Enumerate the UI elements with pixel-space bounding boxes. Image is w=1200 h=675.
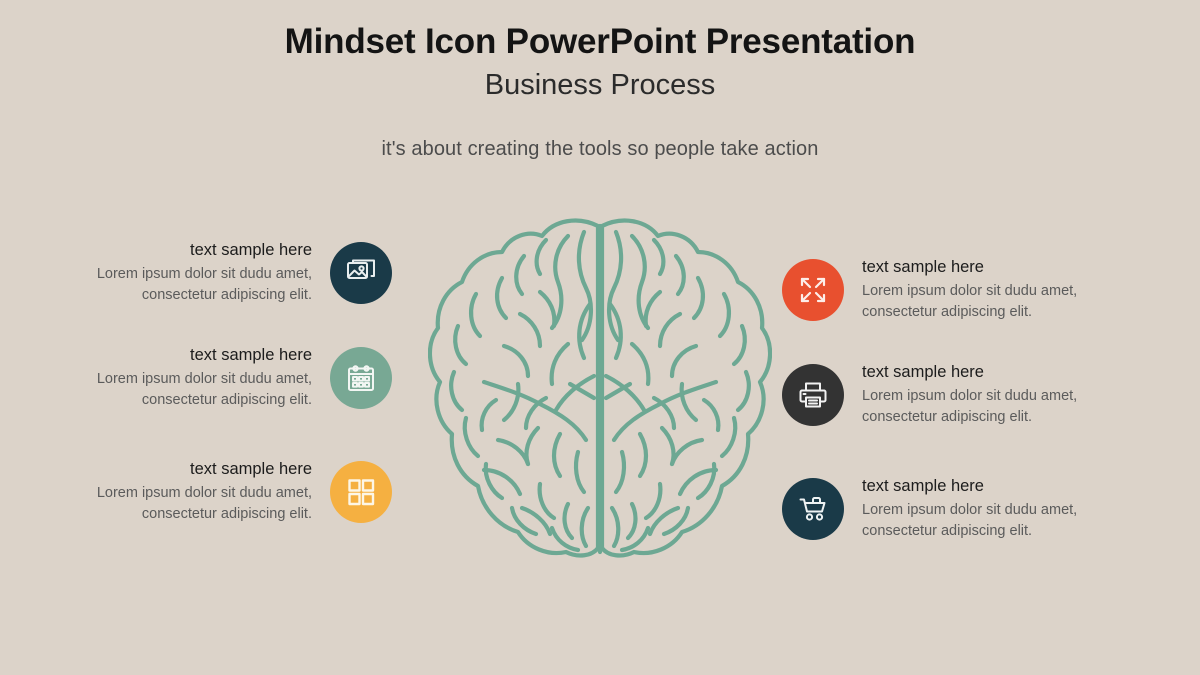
- feature-heading: text sample here: [72, 240, 312, 261]
- feature-body-line1: Lorem ipsum dolor sit dudu amet,: [862, 502, 1077, 518]
- feature-body-line1: Lorem ipsum dolor sit dudu amet,: [97, 266, 312, 282]
- feature-body-line2: consectetur adipiscing elit.: [142, 287, 312, 303]
- feature-text-block: text sample here Lorem ipsum dolor sit d…: [72, 240, 330, 306]
- page-title: Mindset Icon PowerPoint Presentation: [0, 22, 1200, 61]
- feature-icon-badge[interactable]: [330, 242, 392, 304]
- feature-body-line2: consectetur adipiscing elit.: [862, 304, 1032, 320]
- feature-body: Lorem ipsum dolor sit dudu amet, consect…: [72, 483, 312, 524]
- feature-item-right-3[interactable]: text sample here Lorem ipsum dolor sit d…: [782, 476, 1112, 542]
- feature-body-line2: consectetur adipiscing elit.: [862, 409, 1032, 425]
- image-icon: [345, 257, 377, 289]
- feature-item-left-1[interactable]: text sample here Lorem ipsum dolor sit d…: [72, 240, 402, 306]
- feature-body-line2: consectetur adipiscing elit.: [142, 506, 312, 522]
- feature-body-line1: Lorem ipsum dolor sit dudu amet,: [97, 485, 312, 501]
- feature-text-block: text sample here Lorem ipsum dolor sit d…: [844, 476, 1102, 542]
- feature-text-block: text sample here Lorem ipsum dolor sit d…: [72, 459, 330, 525]
- presentation-slide: Mindset Icon PowerPoint Presentation Bus…: [0, 0, 1200, 675]
- feature-heading: text sample here: [72, 345, 312, 366]
- feature-item-left-3[interactable]: text sample here Lorem ipsum dolor sit d…: [72, 459, 402, 525]
- feature-icon-badge[interactable]: [330, 347, 392, 409]
- feature-heading: text sample here: [862, 362, 1102, 383]
- feature-icon-badge[interactable]: [330, 461, 392, 523]
- feature-text-block: text sample here Lorem ipsum dolor sit d…: [844, 257, 1102, 323]
- feature-heading: text sample here: [72, 459, 312, 480]
- feature-item-left-2[interactable]: text sample here Lorem ipsum dolor sit d…: [72, 345, 402, 411]
- feature-body: Lorem ipsum dolor sit dudu amet, consect…: [862, 386, 1102, 427]
- calendar-icon: [345, 362, 377, 394]
- feature-heading: text sample here: [862, 257, 1102, 278]
- feature-icon-badge[interactable]: [782, 259, 844, 321]
- feature-icon-badge[interactable]: [782, 364, 844, 426]
- feature-item-right-2[interactable]: text sample here Lorem ipsum dolor sit d…: [782, 362, 1112, 428]
- feature-icon-badge[interactable]: [782, 478, 844, 540]
- page-subtitle: Business Process: [0, 67, 1200, 103]
- slide-tagline: it's about creating the tools so people …: [0, 138, 1200, 161]
- feature-body: Lorem ipsum dolor sit dudu amet, consect…: [72, 264, 312, 305]
- feature-heading: text sample here: [862, 476, 1102, 497]
- feature-item-right-1[interactable]: text sample here Lorem ipsum dolor sit d…: [782, 257, 1112, 323]
- slide-header: Mindset Icon PowerPoint Presentation Bus…: [0, 22, 1200, 103]
- feature-body-line2: consectetur adipiscing elit.: [142, 392, 312, 408]
- feature-body: Lorem ipsum dolor sit dudu amet, consect…: [862, 281, 1102, 322]
- expand-arrows-icon: [797, 274, 829, 306]
- printer-icon: [797, 379, 829, 411]
- brain-icon: [428, 208, 772, 560]
- feature-text-block: text sample here Lorem ipsum dolor sit d…: [844, 362, 1102, 428]
- feature-body: Lorem ipsum dolor sit dudu amet, consect…: [72, 369, 312, 410]
- feature-body-line2: consectetur adipiscing elit.: [862, 523, 1032, 539]
- feature-body-line1: Lorem ipsum dolor sit dudu amet,: [97, 371, 312, 387]
- feature-body-line1: Lorem ipsum dolor sit dudu amet,: [862, 283, 1077, 299]
- grid-squares-icon: [345, 476, 377, 508]
- feature-body: Lorem ipsum dolor sit dudu amet, consect…: [862, 500, 1102, 541]
- feature-body-line1: Lorem ipsum dolor sit dudu amet,: [862, 388, 1077, 404]
- feature-text-block: text sample here Lorem ipsum dolor sit d…: [72, 345, 330, 411]
- shopping-cart-icon: [797, 493, 829, 525]
- brain-illustration: [428, 208, 772, 560]
